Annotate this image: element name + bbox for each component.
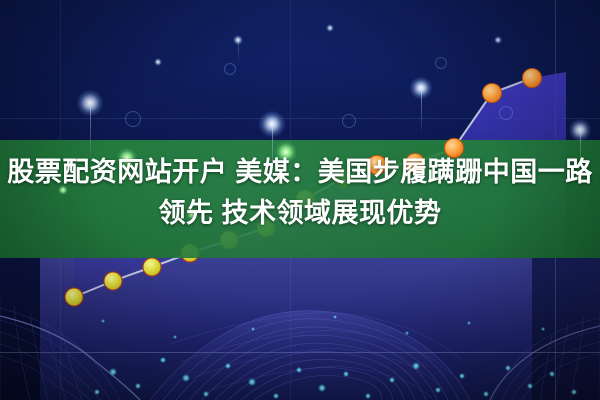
headline-text: 股票配资网站开户 美媒：美国步履蹒跚中国一路领先 技术领域展现优势: [7, 157, 593, 228]
page-title: 股票配资网站开户 美媒：美国步履蹒跚中国一路领先 技术领域展现优势: [0, 152, 600, 234]
news-banner-image: 股票配资网站开户 美媒：美国步履蹒跚中国一路领先 技术领域展现优势: [0, 0, 600, 400]
